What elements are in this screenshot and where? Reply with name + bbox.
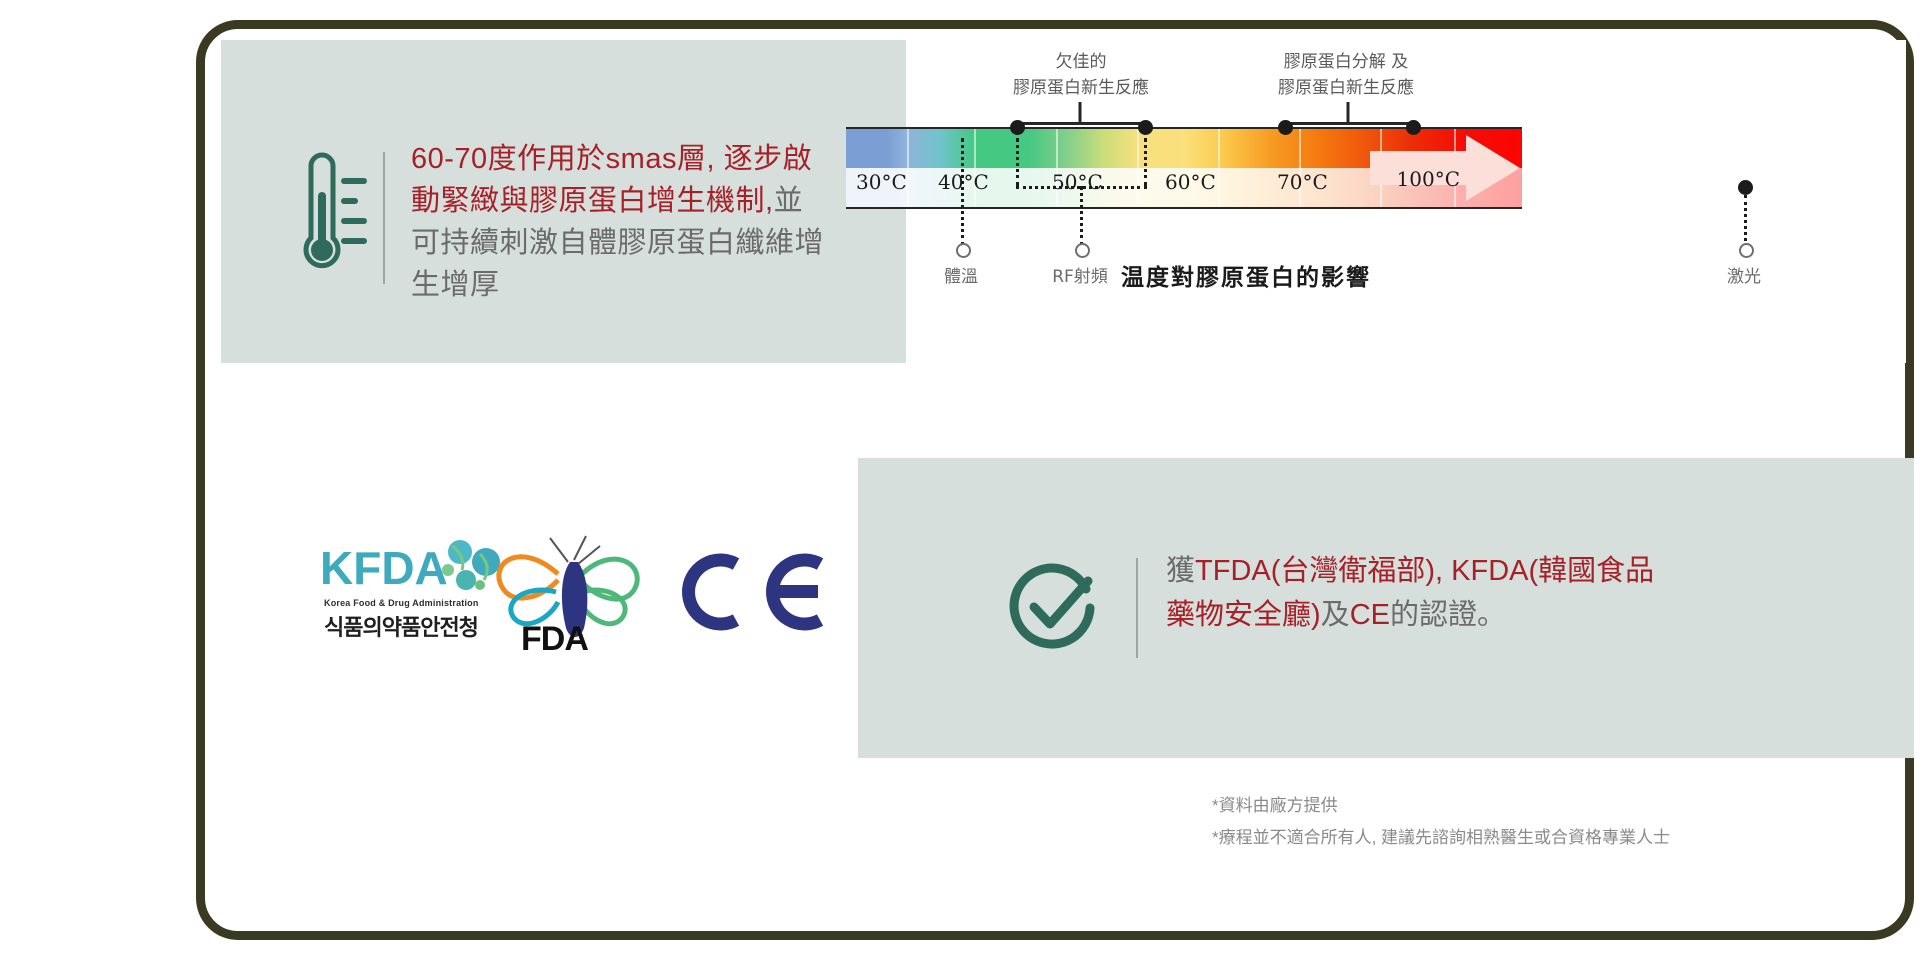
callout-line-laser [1744,195,1747,247]
marker-dot-50 [1138,120,1153,135]
tick-label-70: 70°C [1277,170,1328,194]
footnote-1: *資料由廠方提供 [1212,790,1912,822]
bracket-right [1284,102,1412,130]
callout-label-body-temp: 體溫 [916,262,1006,287]
check-circle-icon [1008,563,1098,653]
callout-line-rf-b [1144,138,1147,186]
temperature-gradient-bar: 30°C 40°C 50°C 60°C 70°C 100°C [846,127,1522,209]
certification-text: 獲TFDA(台灣衛福部), KFDA(韓國食品 藥物安全廳)及CE的認證。 [1166,550,1806,637]
bracket-left [1016,102,1144,130]
kfda-subtitle-en: Korea Food & Drug Administration [324,598,479,608]
svg-text:KFDA: KFDA [320,542,448,594]
marker-dot-60 [1278,120,1293,135]
certification-panel: 獲TFDA(台灣衛福部), KFDA(韓國食品 藥物安全廳)及CE的認證。 [858,458,1914,758]
cert-text-prefix: 獲 [1166,555,1195,587]
tick-label-40: 40°C [938,170,989,194]
tick-label-100: 100°C [1397,167,1460,191]
callout-line-rf-a [1016,138,1019,186]
tick-label-30: 30°C [856,170,907,194]
callout-end-laser [1739,243,1754,258]
kfda-subtitle-kr: 식품의약품안전청 [324,610,478,642]
thermometer-icon [281,150,371,280]
mechanism-text-line2: 動緊緻與膠原蛋白增生機制, [411,185,774,217]
callout-line-rf-stem [1080,186,1083,246]
callout-label-rf: RF射頻 [1030,262,1130,287]
tick-label-50: 50°C [1052,170,1103,194]
mechanism-panel: 60-70度作用於smas層, 逐步啟 動緊緻與膠原蛋白增生機制,並 可持續刺激… [221,40,906,363]
cert-text-line2: 藥物安全廳) [1166,599,1321,631]
mechanism-text-line4: 生增厚 [411,269,500,301]
chart-title: 温度對膠原蛋白的影響 [1121,258,1371,292]
cert-text-suffix: 的認證。 [1390,599,1506,631]
slide-canvas: 60-70度作用於smas層, 逐步啟 動緊緻與膠原蛋白增生機制,並 可持續刺激… [0,0,1921,972]
bracket-label-right: 膠原蛋白分解 及 膠原蛋白新生反應 [1226,50,1466,101]
mechanism-text-line2b: 並 [774,185,804,217]
marker-dot-40 [1010,120,1025,135]
footnote-2: *療程並不適合所有人, 建議先諮詢相熟醫生或合資格專業人士 [1212,822,1912,854]
callout-label-laser: 激光 [1699,262,1789,287]
mechanism-text-line3: 可持續刺激自體膠原蛋白纖維增 [411,227,824,259]
temperature-collagen-chart: 欠佳的 膠原蛋白新生反應 膠原蛋白分解 及 膠原蛋白新生反應 30°C [906,40,1906,363]
mechanism-text-line1: 60-70度作用於smas層, 逐步啟 [411,143,812,175]
bracket-label-left: 欠佳的 膠原蛋白新生反應 [966,50,1196,101]
panel-divider [1136,558,1138,658]
callout-end-body-temp [956,243,971,258]
cert-text-ce: CE [1350,599,1390,631]
callout-end-rf [1075,243,1090,258]
panel-divider [383,152,385,284]
ce-mark-icon [680,552,830,632]
certification-logos: KFDA Korea Food & Drug Administration 식품… [320,540,800,680]
cert-text-mid: 及 [1321,599,1350,631]
marker-dot-100 [1738,180,1753,195]
cert-text-line1: TFDA(台灣衛福部), KFDA(韓國食品 [1195,555,1654,587]
tfda-wordmark: FDA [521,620,588,659]
footnotes: *資料由廠方提供 *療程並不適合所有人, 建議先諮詢相熟醫生或合資格專業人士 [1212,790,1912,855]
tick-label-60: 60°C [1165,170,1216,194]
